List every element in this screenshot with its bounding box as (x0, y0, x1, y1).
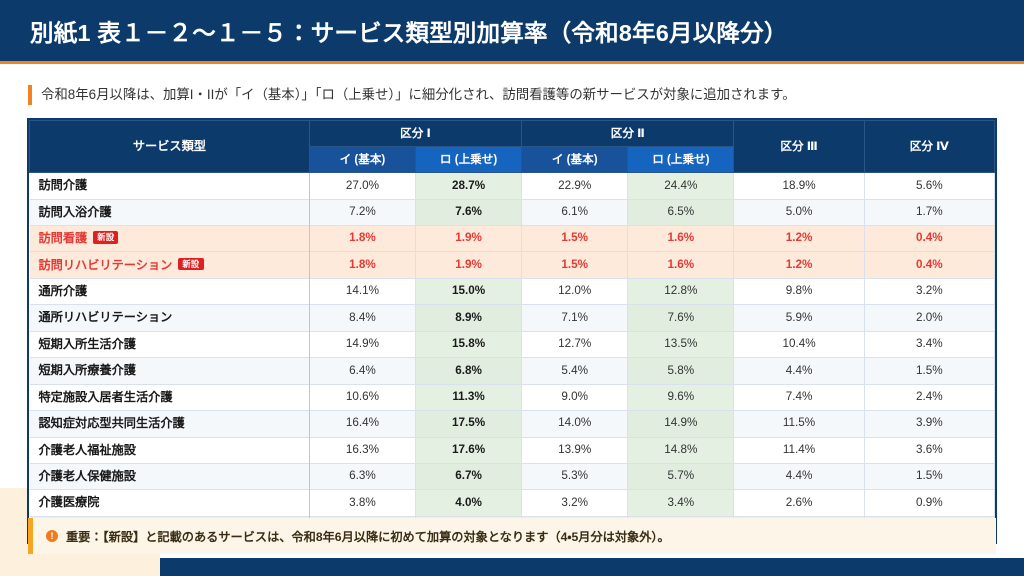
cell-kubun3: 1.2% (734, 252, 864, 278)
intro-text: 令和8年6月以降は、加算I・IIが「イ（基本）」「ロ（上乗せ）」に細分化され、訪… (41, 87, 796, 103)
service-name-label: 介護老人福祉施設 (39, 443, 137, 457)
intro-accent-bar (28, 85, 32, 105)
cell-kubun4: 1.7% (864, 199, 994, 225)
note-text: 重要：【新設】と記載のあるサービスは、令和8年6月以降に初めて加算の対象となりま… (66, 527, 670, 545)
cell-kubun2-uwanose: 14.8% (628, 437, 734, 463)
cell-kubun4: 1.5% (864, 463, 994, 489)
cell-service-name: 通所介護 (30, 278, 310, 304)
cell-kubun1-uwanose: 15.0% (416, 278, 522, 304)
cell-kubun1-basic: 6.3% (309, 463, 415, 489)
cell-kubun3: 18.9% (734, 173, 864, 199)
decorative-bottom-bar (160, 558, 1024, 576)
service-name-label: 介護医療院 (39, 495, 100, 509)
cell-kubun3: 10.4% (734, 331, 864, 357)
cell-service-name: 認知症対応型共同生活介護 (30, 411, 310, 437)
cell-kubun2-basic: 5.3% (522, 463, 628, 489)
service-name-label: 通所リハビリテーション (39, 310, 173, 324)
cell-kubun4: 3.2% (864, 278, 994, 304)
cell-kubun1-uwanose: 11.3% (416, 384, 522, 410)
col-header-kubun-1: 区分 Ⅰ (309, 121, 521, 147)
table-body: 訪問介護27.0%28.7%22.9%24.4%18.9%5.6%訪問入浴介護7… (30, 173, 995, 543)
cell-kubun2-basic: 7.1% (522, 305, 628, 331)
service-name-label: 認知症対応型共同生活介護 (39, 416, 185, 430)
cell-kubun1-uwanose: 8.9% (416, 305, 522, 331)
cell-service-name: 介護老人保健施設 (30, 463, 310, 489)
table-row: 短期入所生活介護14.9%15.8%12.7%13.5%10.4%3.4% (30, 331, 995, 357)
cell-kubun2-basic: 12.0% (522, 278, 628, 304)
cell-kubun2-basic: 9.0% (522, 384, 628, 410)
slide-header: 別紙1 表１－２～１－５：サービス類型別加算率（令和8年6月以降分） (0, 0, 1024, 64)
cell-kubun2-basic: 14.0% (522, 411, 628, 437)
table-row: 訪問看護新設1.8%1.9%1.5%1.6%1.2%0.4% (30, 226, 995, 252)
service-name-label: 短期入所療養介護 (39, 363, 137, 377)
rates-table-container: サービス類型 区分 Ⅰ 区分 Ⅱ 区分 Ⅲ 区分 Ⅳ イ (基本) ロ (上乗せ… (27, 118, 997, 544)
cell-kubun1-uwanose: 17.5% (416, 411, 522, 437)
cell-kubun1-basic: 1.8% (309, 226, 415, 252)
cell-kubun2-basic: 12.7% (522, 331, 628, 357)
cell-kubun2-uwanose: 7.6% (628, 305, 734, 331)
cell-kubun2-uwanose: 6.5% (628, 199, 734, 225)
cell-kubun1-basic: 14.9% (309, 331, 415, 357)
cell-kubun4: 0.4% (864, 252, 994, 278)
cell-kubun1-uwanose: 7.6% (416, 199, 522, 225)
cell-kubun1-uwanose: 28.7% (416, 173, 522, 199)
cell-kubun3: 2.6% (734, 490, 864, 516)
service-name-label: 通所介護 (39, 284, 88, 298)
cell-kubun2-basic: 22.9% (522, 173, 628, 199)
cell-kubun2-uwanose: 3.4% (628, 490, 734, 516)
cell-service-name: 訪問看護新設 (30, 226, 310, 252)
table-row: 介護医療院3.8%4.0%3.2%3.4%2.6%0.9% (30, 490, 995, 516)
service-name-label: 短期入所生活介護 (39, 337, 137, 351)
col-header-kubun1-uwanose: ロ (上乗せ) (416, 147, 522, 173)
cell-kubun3: 1.2% (734, 226, 864, 252)
table-row: 通所介護14.1%15.0%12.0%12.8%9.8%3.2% (30, 278, 995, 304)
cell-kubun3: 11.5% (734, 411, 864, 437)
cell-kubun3: 7.4% (734, 384, 864, 410)
warning-icon: ! (46, 530, 58, 542)
table-row: 特定施設入居者生活介護10.6%11.3%9.0%9.6%7.4%2.4% (30, 384, 995, 410)
service-name-label: 訪問介護 (39, 178, 88, 192)
cell-kubun1-uwanose: 4.0% (416, 490, 522, 516)
col-header-kubun1-basic: イ (基本) (309, 147, 415, 173)
cell-kubun4: 3.6% (864, 437, 994, 463)
cell-kubun4: 2.4% (864, 384, 994, 410)
page-title: 別紙1 表１－２～１－５：サービス類型別加算率（令和8年6月以降分） (0, 14, 788, 48)
cell-kubun1-basic: 7.2% (309, 199, 415, 225)
cell-kubun2-basic: 5.4% (522, 358, 628, 384)
cell-kubun4: 2.0% (864, 305, 994, 331)
cell-kubun2-basic: 1.5% (522, 226, 628, 252)
note-accent-bar (28, 518, 33, 554)
cell-kubun1-basic: 16.3% (309, 437, 415, 463)
cell-kubun2-basic: 13.9% (522, 437, 628, 463)
rates-table: サービス類型 区分 Ⅰ 区分 Ⅱ 区分 Ⅲ 区分 Ⅳ イ (基本) ロ (上乗せ… (29, 120, 995, 542)
cell-kubun4: 1.5% (864, 358, 994, 384)
cell-kubun2-uwanose: 1.6% (628, 226, 734, 252)
table-row: 認知症対応型共同生活介護16.4%17.5%14.0%14.9%11.5%3.9… (30, 411, 995, 437)
cell-kubun1-basic: 3.8% (309, 490, 415, 516)
cell-kubun3: 9.8% (734, 278, 864, 304)
service-name-label: 訪問リハビリテーション (39, 258, 173, 272)
cell-kubun2-uwanose: 9.6% (628, 384, 734, 410)
table-row: 介護老人福祉施設16.3%17.6%13.9%14.8%11.4%3.6% (30, 437, 995, 463)
cell-kubun1-uwanose: 1.9% (416, 252, 522, 278)
cell-service-name: 短期入所生活介護 (30, 331, 310, 357)
cell-kubun2-uwanose: 24.4% (628, 173, 734, 199)
service-name-label: 訪問入浴介護 (39, 205, 112, 219)
cell-service-name: 訪問入浴介護 (30, 199, 310, 225)
new-service-badge: 新設 (178, 258, 203, 271)
col-header-kubun2-uwanose: ロ (上乗せ) (628, 147, 734, 173)
table-head-row-groups: サービス類型 区分 Ⅰ 区分 Ⅱ 区分 Ⅲ 区分 Ⅳ (30, 121, 995, 147)
cell-kubun1-uwanose: 17.6% (416, 437, 522, 463)
cell-kubun1-uwanose: 15.8% (416, 331, 522, 357)
cell-kubun4: 3.4% (864, 331, 994, 357)
cell-kubun2-uwanose: 14.9% (628, 411, 734, 437)
cell-kubun2-uwanose: 5.7% (628, 463, 734, 489)
cell-service-name: 通所リハビリテーション (30, 305, 310, 331)
cell-service-name: 訪問リハビリテーション新設 (30, 252, 310, 278)
cell-service-name: 特定施設入居者生活介護 (30, 384, 310, 410)
cell-kubun2-basic: 3.2% (522, 490, 628, 516)
cell-kubun3: 4.4% (734, 358, 864, 384)
cell-kubun1-basic: 6.4% (309, 358, 415, 384)
important-note: ! 重要：【新設】と記載のあるサービスは、令和8年6月以降に初めて加算の対象とな… (28, 518, 996, 554)
cell-kubun4: 0.4% (864, 226, 994, 252)
table-row: 訪問介護27.0%28.7%22.9%24.4%18.9%5.6% (30, 173, 995, 199)
service-name-label: 特定施設入居者生活介護 (39, 390, 173, 404)
cell-kubun1-basic: 1.8% (309, 252, 415, 278)
cell-kubun1-uwanose: 6.7% (416, 463, 522, 489)
table-row: 訪問入浴介護7.2%7.6%6.1%6.5%5.0%1.7% (30, 199, 995, 225)
new-service-badge: 新設 (93, 231, 118, 244)
table-head: サービス類型 区分 Ⅰ 区分 Ⅱ 区分 Ⅲ 区分 Ⅳ イ (基本) ロ (上乗せ… (30, 121, 995, 173)
cell-kubun3: 5.0% (734, 199, 864, 225)
cell-kubun2-uwanose: 1.6% (628, 252, 734, 278)
cell-kubun3: 5.9% (734, 305, 864, 331)
cell-kubun4: 0.9% (864, 490, 994, 516)
cell-kubun2-uwanose: 12.8% (628, 278, 734, 304)
cell-service-name: 訪問介護 (30, 173, 310, 199)
table-row: 通所リハビリテーション8.4%8.9%7.1%7.6%5.9%2.0% (30, 305, 995, 331)
cell-service-name: 介護医療院 (30, 490, 310, 516)
cell-kubun1-basic: 8.4% (309, 305, 415, 331)
col-header-kubun2-basic: イ (基本) (522, 147, 628, 173)
cell-kubun1-basic: 16.4% (309, 411, 415, 437)
cell-service-name: 短期入所療養介護 (30, 358, 310, 384)
cell-kubun2-uwanose: 5.8% (628, 358, 734, 384)
col-header-service-type: サービス類型 (30, 121, 310, 173)
col-header-kubun-2: 区分 Ⅱ (522, 121, 734, 147)
cell-kubun4: 3.9% (864, 411, 994, 437)
col-header-kubun-4: 区分 Ⅳ (864, 121, 994, 173)
cell-kubun1-basic: 14.1% (309, 278, 415, 304)
cell-kubun1-basic: 10.6% (309, 384, 415, 410)
intro-callout: 令和8年6月以降は、加算I・IIが「イ（基本）」「ロ（上乗せ）」に細分化され、訪… (28, 82, 998, 108)
cell-kubun3: 4.4% (734, 463, 864, 489)
cell-kubun2-uwanose: 13.5% (628, 331, 734, 357)
service-name-label: 訪問看護 (39, 231, 88, 245)
table-row: 介護老人保健施設6.3%6.7%5.3%5.7%4.4%1.5% (30, 463, 995, 489)
cell-kubun1-uwanose: 6.8% (416, 358, 522, 384)
cell-kubun1-basic: 27.0% (309, 173, 415, 199)
table-row: 短期入所療養介護6.4%6.8%5.4%5.8%4.4%1.5% (30, 358, 995, 384)
cell-kubun1-uwanose: 1.9% (416, 226, 522, 252)
cell-kubun3: 11.4% (734, 437, 864, 463)
cell-kubun2-basic: 6.1% (522, 199, 628, 225)
service-name-label: 介護老人保健施設 (39, 469, 137, 483)
col-header-kubun-3: 区分 Ⅲ (734, 121, 864, 173)
slide-root: 別紙1 表１－２～１－５：サービス類型別加算率（令和8年6月以降分） 令和8年6… (0, 0, 1024, 576)
cell-kubun4: 5.6% (864, 173, 994, 199)
cell-service-name: 介護老人福祉施設 (30, 437, 310, 463)
table-row: 訪問リハビリテーション新設1.8%1.9%1.5%1.6%1.2%0.4% (30, 252, 995, 278)
cell-kubun2-basic: 1.5% (522, 252, 628, 278)
